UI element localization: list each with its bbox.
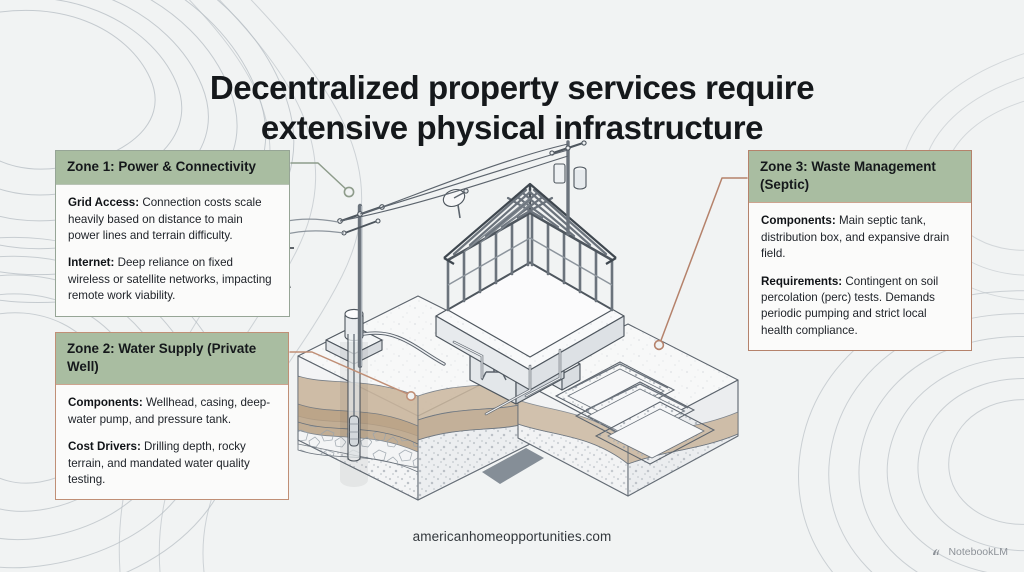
card-zone2-paragraph-1: Components: Wellhead, casing, deep-water… [68,395,276,428]
card-zone2-paragraph-2: Cost Drivers: Drilling depth, rocky terr… [68,439,276,488]
card-zone3-body: Components: Main septic tank, distributi… [749,202,971,350]
callout-card-zone1[interactable]: Zone 1: Power & Connectivity Grid Access… [55,150,290,317]
card-zone2-header: Zone 2: Water Supply (Private Well) [56,333,288,384]
card-zone3-label-2: Requirements: [761,275,842,288]
card-zone3-header: Zone 3: Waste Management (Septic) [749,151,971,202]
notebooklm-icon [931,546,943,558]
title-line-2: extensive physical infrastructure [120,108,904,148]
card-zone2-label-2: Cost Drivers: [68,440,141,453]
card-zone3-paragraph-1: Components: Main septic tank, distributi… [761,213,959,262]
card-zone1-paragraph-1: Grid Access: Connection costs scale heav… [68,195,277,244]
notebooklm-label: NotebookLM [948,546,1008,558]
title-line-1: Decentralized property services require [210,69,814,106]
callout-card-zone2[interactable]: Zone 2: Water Supply (Private Well) Comp… [55,332,289,500]
callout-card-zone3[interactable]: Zone 3: Waste Management (Septic) Compon… [748,150,972,351]
card-zone1-header: Zone 1: Power & Connectivity [56,151,289,184]
card-zone2-label-1: Components: [68,396,143,409]
card-zone1-label-1: Grid Access: [68,196,139,209]
notebooklm-watermark: NotebookLM [931,546,1008,558]
card-zone1-paragraph-2: Internet: Deep reliance on fixed wireles… [68,255,277,304]
property-infrastructure-illustration [268,128,768,518]
card-zone1-body: Grid Access: Connection costs scale heav… [56,184,289,316]
card-zone3-label-1: Components: [761,214,836,227]
page-title: Decentralized property services require … [0,68,1024,149]
infographic-canvas: Decentralized property services require … [0,0,1024,572]
card-zone3-paragraph-2: Requirements: Contingent on soil percola… [761,274,959,340]
footer-site-url: americanhomeopportunities.com [0,529,1024,544]
card-zone2-body: Components: Wellhead, casing, deep-water… [56,384,288,499]
satellite-dish [441,186,468,218]
card-zone1-label-2: Internet: [68,256,114,269]
